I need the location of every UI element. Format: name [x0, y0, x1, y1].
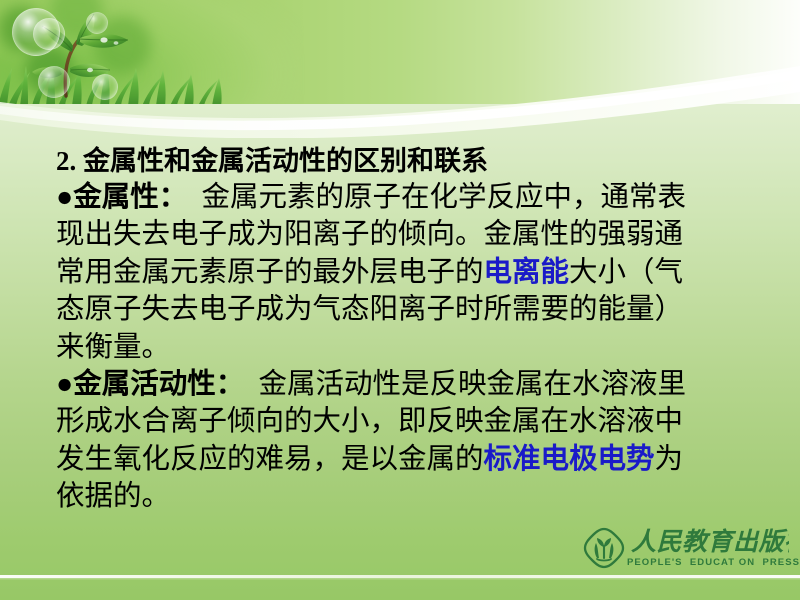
body-text: 大小（气: [569, 257, 683, 288]
body-text: 依据的。: [56, 481, 170, 512]
bubble-decoration: [86, 12, 108, 34]
body-text: 来衡量。: [56, 332, 170, 363]
bubble-decoration: [38, 66, 70, 98]
slide-header-band: [0, 0, 800, 104]
body-line: 发生氧化反应的难易，是以金属的标准电极电势为: [56, 441, 776, 478]
slide-body: ●金属性： 金属元素的原子在化学反应中，通常表现出失去电子成为阳离子的倾向。金属…: [56, 179, 776, 516]
body-line: ●金属活动性： 金属活动性是反映金属在水溶液里: [56, 366, 776, 403]
bullet-heading: ●金属活动性：: [56, 369, 244, 400]
body-line: ●金属性： 金属元素的原子在化学反应中，通常表: [56, 179, 776, 216]
publisher-name-chinese: 人民教育出版社: [631, 525, 789, 557]
body-text: 金属活动性是反映金属在水溶液里: [244, 369, 686, 400]
body-line: 来衡量。: [56, 329, 776, 366]
sprout-in-hands-emblem-icon: [583, 527, 625, 569]
highlighted-term: 电离能: [484, 257, 570, 288]
publisher-logo: 人民教育出版社 PEOPLE'S EDUCAT ON PRESS: [583, 524, 789, 580]
slide-text-content: 2. 金属性和金属活动性的区别和联系 ●金属性： 金属元素的原子在化学反应中，通…: [56, 143, 776, 516]
body-line: 依据的。: [56, 478, 776, 515]
presentation-slide: 2. 金属性和金属活动性的区别和联系 ●金属性： 金属元素的原子在化学反应中，通…: [0, 0, 800, 600]
publisher-name-english: PEOPLE'S EDUCAT ON PRESS: [627, 557, 789, 568]
body-text: 现出失去电子成为阳离子的倾向。金属性的强弱通: [56, 219, 683, 250]
body-text: 形成水合离子倾向的大小，即反映金属在水溶液中: [56, 406, 683, 437]
bullet-heading: ●金属性：: [56, 182, 187, 213]
body-line: 常用金属元素原子的最外层电子的电离能大小（气: [56, 254, 776, 291]
bubble-decoration: [33, 18, 65, 50]
bubble-decoration: [92, 74, 118, 100]
body-text: 为: [655, 444, 684, 475]
body-text: 常用金属元素原子的最外层电子的: [56, 257, 484, 288]
body-line: 形成水合离子倾向的大小，即反映金属在水溶液中: [56, 403, 776, 440]
body-line: 态原子失去电子成为气态阳离子时所需要的能量）: [56, 291, 776, 328]
body-line: 现出失去电子成为阳离子的倾向。金属性的强弱通: [56, 216, 776, 253]
slide-title: 2. 金属性和金属活动性的区别和联系: [56, 143, 776, 179]
highlighted-term: 标准电极电势: [484, 444, 655, 475]
body-text: 金属元素的原子在化学反应中，通常表: [187, 182, 686, 213]
svg-text:人民教育出版社: 人民教育出版社: [631, 528, 789, 556]
body-text: 态原子失去电子成为气态阳离子时所需要的能量）: [56, 294, 683, 325]
body-text: 发生氧化反应的难易，是以金属的: [56, 444, 484, 475]
